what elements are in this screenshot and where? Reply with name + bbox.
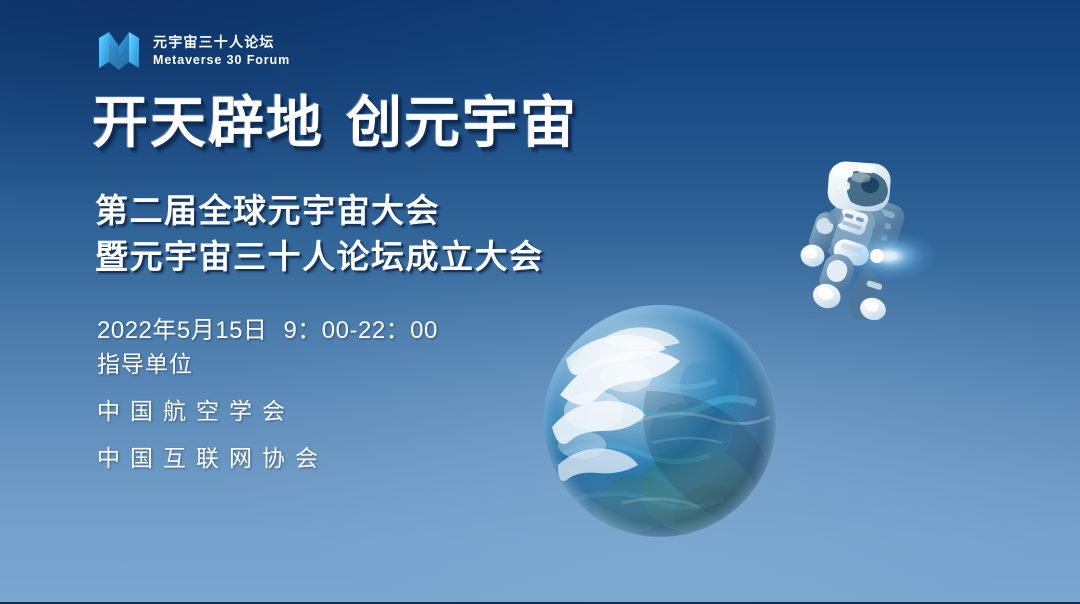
organizers-label: 指导单位 — [97, 353, 328, 376]
event-time: 9：00-22：00 — [283, 317, 437, 344]
astronaut — [783, 152, 941, 320]
organizers-block: 指导单位 中国航空学会 中国互联网协会 — [97, 353, 328, 470]
event-date: 2022年5月15日 — [97, 317, 267, 344]
organizer-item: 中国互联网协会 — [97, 447, 328, 470]
event-datetime: 2022年5月15日9：00-22：00 — [97, 310, 438, 345]
astronaut-light-glow — [841, 230, 937, 282]
logo-name-cn: 元宇宙三十人论坛 — [153, 34, 290, 52]
metaverse-m-logo-icon — [96, 28, 142, 74]
earth-globe — [542, 303, 778, 539]
organizer-item: 中国航空学会 — [97, 400, 328, 423]
forum-logo-lockup: 元宇宙三十人论坛 Metaverse 30 Forum — [96, 28, 290, 74]
logo-name-en: Metaverse 30 Forum — [153, 52, 290, 68]
poster-subtitle: 第二届全球元宇宙大会 暨元宇宙三十人论坛成立大会 — [95, 188, 544, 279]
event-poster: 元宇宙三十人论坛 Metaverse 30 Forum 开天辟地创元宇宙 第二届… — [0, 0, 1080, 604]
headline-part-1: 开天辟地 — [92, 91, 324, 154]
headline-part-2: 创元宇宙 — [346, 91, 578, 154]
logo-wordmark: 元宇宙三十人论坛 Metaverse 30 Forum — [153, 34, 290, 69]
poster-headline: 开天辟地创元宇宙 — [92, 94, 578, 153]
subtitle-line-2: 暨元宇宙三十人论坛成立大会 — [95, 234, 544, 280]
subtitle-line-1: 第二届全球元宇宙大会 — [95, 188, 544, 234]
